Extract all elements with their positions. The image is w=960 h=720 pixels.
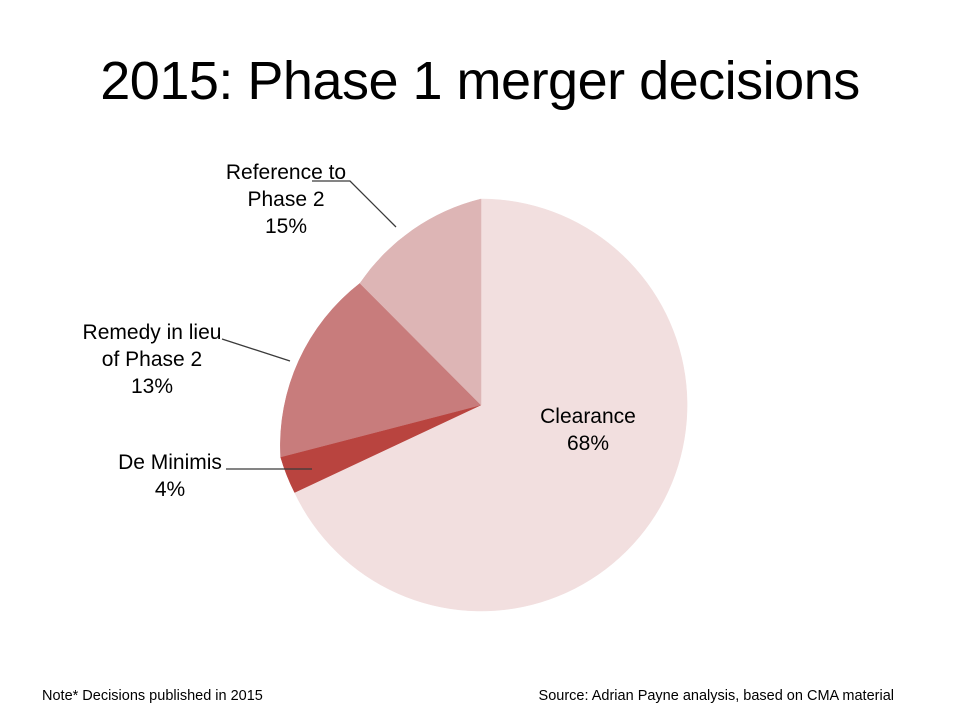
- slice-label-reference-line2: Phase 2: [196, 187, 376, 214]
- slice-label-deminimis-name: De Minimis: [90, 450, 250, 477]
- slice-label-remedy: Remedy in lieu of Phase 2 13%: [52, 320, 252, 401]
- slice-label-remedy-line2: of Phase 2: [52, 347, 252, 374]
- slice-label-deminimis: De Minimis 4%: [90, 450, 250, 504]
- slice-label-reference-line1: Reference to: [196, 160, 376, 187]
- slice-label-remedy-line1: Remedy in lieu: [52, 320, 252, 347]
- slice-label-deminimis-value: 4%: [90, 477, 250, 504]
- slice-label-remedy-value: 13%: [52, 374, 252, 401]
- slice-label-clearance-name: Clearance: [508, 404, 668, 431]
- footnote-right: Source: Adrian Payne analysis, based on …: [539, 688, 894, 704]
- slice-label-clearance-value: 68%: [508, 431, 668, 458]
- slide-canvas: 2015: Phase 1 merger decisions Reference…: [0, 0, 960, 720]
- slice-label-reference-value: 15%: [196, 214, 376, 241]
- slice-label-reference: Reference to Phase 2 15%: [196, 160, 376, 241]
- footnote-left: Note* Decisions published in 2015: [42, 688, 263, 704]
- slice-label-clearance: Clearance 68%: [508, 404, 668, 458]
